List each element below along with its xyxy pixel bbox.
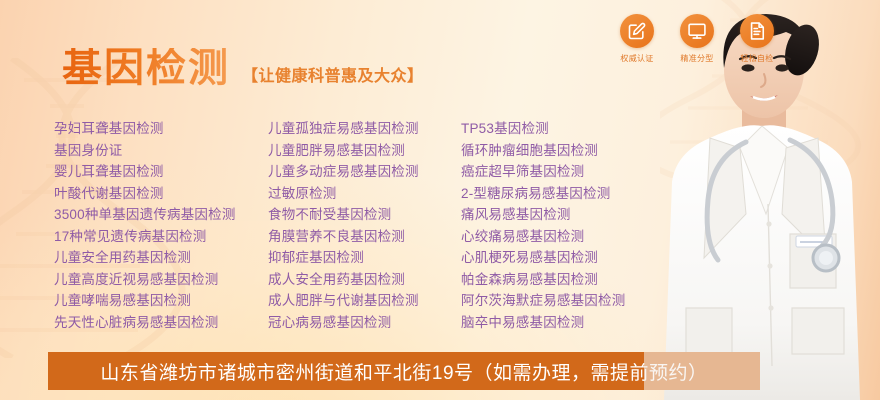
list-item[interactable]: 脑卒中易感基因检测	[461, 312, 691, 334]
list-item[interactable]: 抑郁症基因检测	[268, 247, 461, 269]
list-item[interactable]: 先天性心脏病易感基因检测	[54, 312, 268, 334]
badge-group: 权威认证 精准分型 轻松自检	[612, 14, 782, 64]
list-item[interactable]: 婴儿耳聋基因检测	[54, 161, 268, 183]
badge-label: 轻松自检	[740, 53, 773, 64]
list-item[interactable]: 孕妇耳聋基因检测	[54, 118, 268, 140]
list-item[interactable]: 癌症超早筛基因检测	[461, 161, 691, 183]
monitor-icon	[680, 14, 714, 48]
list-item[interactable]: 儿童安全用药基因检测	[54, 247, 268, 269]
list-item[interactable]: 儿童肥胖易感基因检测	[268, 140, 461, 162]
list-item[interactable]: 帕金森病易感基因检测	[461, 269, 691, 291]
list-item[interactable]: 儿童多动症易感基因检测	[268, 161, 461, 183]
badge-easy-self-check[interactable]: 轻松自检	[732, 14, 782, 64]
list-item[interactable]: 角膜营养不良基因检测	[268, 226, 461, 248]
list-item[interactable]: 痛风易感基因检测	[461, 204, 691, 226]
page-subtitle: 【让健康科普惠及大众】	[242, 62, 424, 86]
badge-precise-typing[interactable]: 精准分型	[672, 14, 722, 64]
service-column-1: 孕妇耳聋基因检测 基因身份证 婴儿耳聋基因检测 叶酸代谢基因检测 3500种单基…	[54, 118, 268, 333]
report-document-icon	[740, 14, 774, 48]
edit-square-icon	[620, 14, 654, 48]
list-item[interactable]: 心肌梗死易感基因检测	[461, 247, 691, 269]
list-item[interactable]: 儿童高度近视易感基因检测	[54, 269, 268, 291]
list-item[interactable]: 阿尔茨海默症易感基因检测	[461, 290, 691, 312]
service-list: 孕妇耳聋基因检测 基因身份证 婴儿耳聋基因检测 叶酸代谢基因检测 3500种单基…	[54, 118, 691, 333]
page-title: 基因检测	[62, 48, 230, 88]
list-item[interactable]: 过敏原检测	[268, 183, 461, 205]
service-column-2: 儿童孤独症易感基因检测 儿童肥胖易感基因检测 儿童多动症易感基因检测 过敏原检测…	[268, 118, 461, 333]
badge-authority-certification[interactable]: 权威认证	[612, 14, 662, 64]
badge-label: 精准分型	[680, 53, 713, 64]
address-banner-text: 山东省潍坊市诸城市密州街道和平北街19号（如需办理，需提前预约）	[100, 358, 707, 385]
list-item[interactable]: 成人肥胖与代谢基因检测	[268, 290, 461, 312]
list-item[interactable]: 儿童孤独症易感基因检测	[268, 118, 461, 140]
service-column-3: TP53基因检测 循环肿瘤细胞基因检测 癌症超早筛基因检测 2-型糖尿病易感基因…	[461, 118, 691, 333]
list-item[interactable]: 基因身份证	[54, 140, 268, 162]
list-item[interactable]: 儿童哮喘易感基因检测	[54, 290, 268, 312]
list-item[interactable]: 叶酸代谢基因检测	[54, 183, 268, 205]
address-banner: 山东省潍坊市诸城市密州街道和平北街19号（如需办理，需提前预约）	[48, 352, 760, 390]
list-item[interactable]: TP53基因检测	[461, 118, 691, 140]
gene-testing-poster: 基因检测 【让健康科普惠及大众】 权威认证 精准分型	[0, 0, 880, 400]
list-item[interactable]: 食物不耐受基因检测	[268, 204, 461, 226]
list-item[interactable]: 心绞痛易感基因检测	[461, 226, 691, 248]
list-item[interactable]: 冠心病易感基因检测	[268, 312, 461, 334]
list-item[interactable]: 循环肿瘤细胞基因检测	[461, 140, 691, 162]
page-title-block: 基因检测 【让健康科普惠及大众】	[62, 48, 424, 88]
list-item[interactable]: 2-型糖尿病易感基因检测	[461, 183, 691, 205]
list-item[interactable]: 17种常见遗传病基因检测	[54, 226, 268, 248]
badge-label: 权威认证	[620, 53, 653, 64]
list-item[interactable]: 成人安全用药基因检测	[268, 269, 461, 291]
list-item[interactable]: 3500种单基因遗传病基因检测	[54, 204, 268, 226]
